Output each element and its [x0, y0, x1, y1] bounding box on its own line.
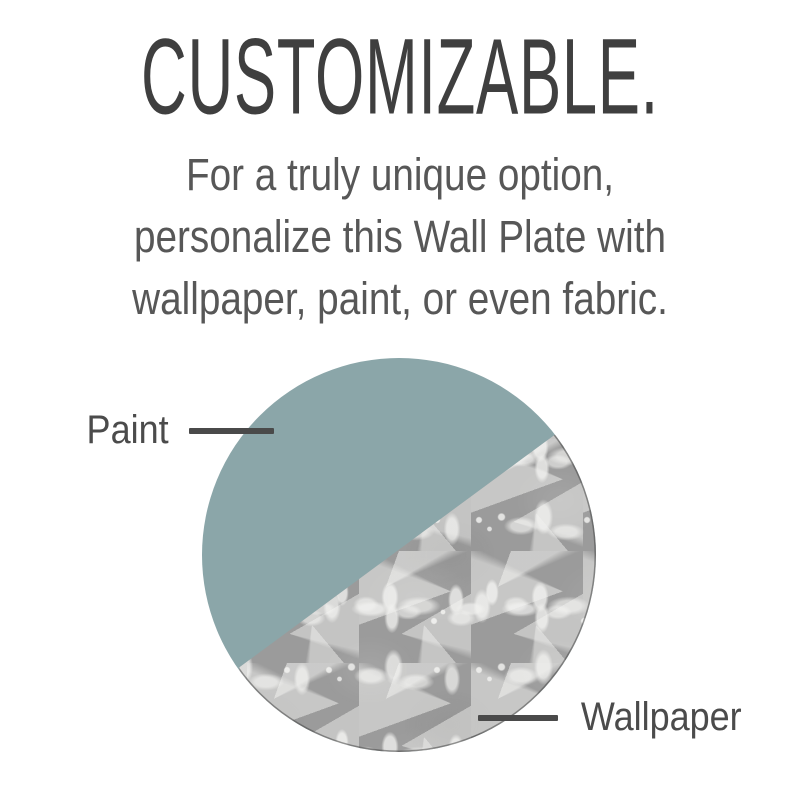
- callout-wallpaper-label: Wallpaper: [581, 695, 742, 740]
- description-line-2: personalize this Wall Plate with: [56, 206, 744, 268]
- customizable-promo-graphic: { "headline": { "text": "CUSTOMIZABLE.",…: [0, 0, 800, 800]
- callout-paint: Paint: [82, 408, 274, 453]
- callout-wallpaper: Wallpaper: [478, 695, 751, 740]
- leader-line-icon: [189, 428, 274, 434]
- description-line-3: wallpaper, paint, or even fabric.: [56, 268, 744, 330]
- description-line-1: For a truly unique option,: [56, 144, 744, 206]
- description-text: For a truly unique option, personalize t…: [56, 144, 744, 330]
- leader-line-icon: [478, 715, 558, 721]
- callout-paint-label: Paint: [87, 408, 169, 453]
- page-title: CUSTOMIZABLE.: [136, 19, 664, 135]
